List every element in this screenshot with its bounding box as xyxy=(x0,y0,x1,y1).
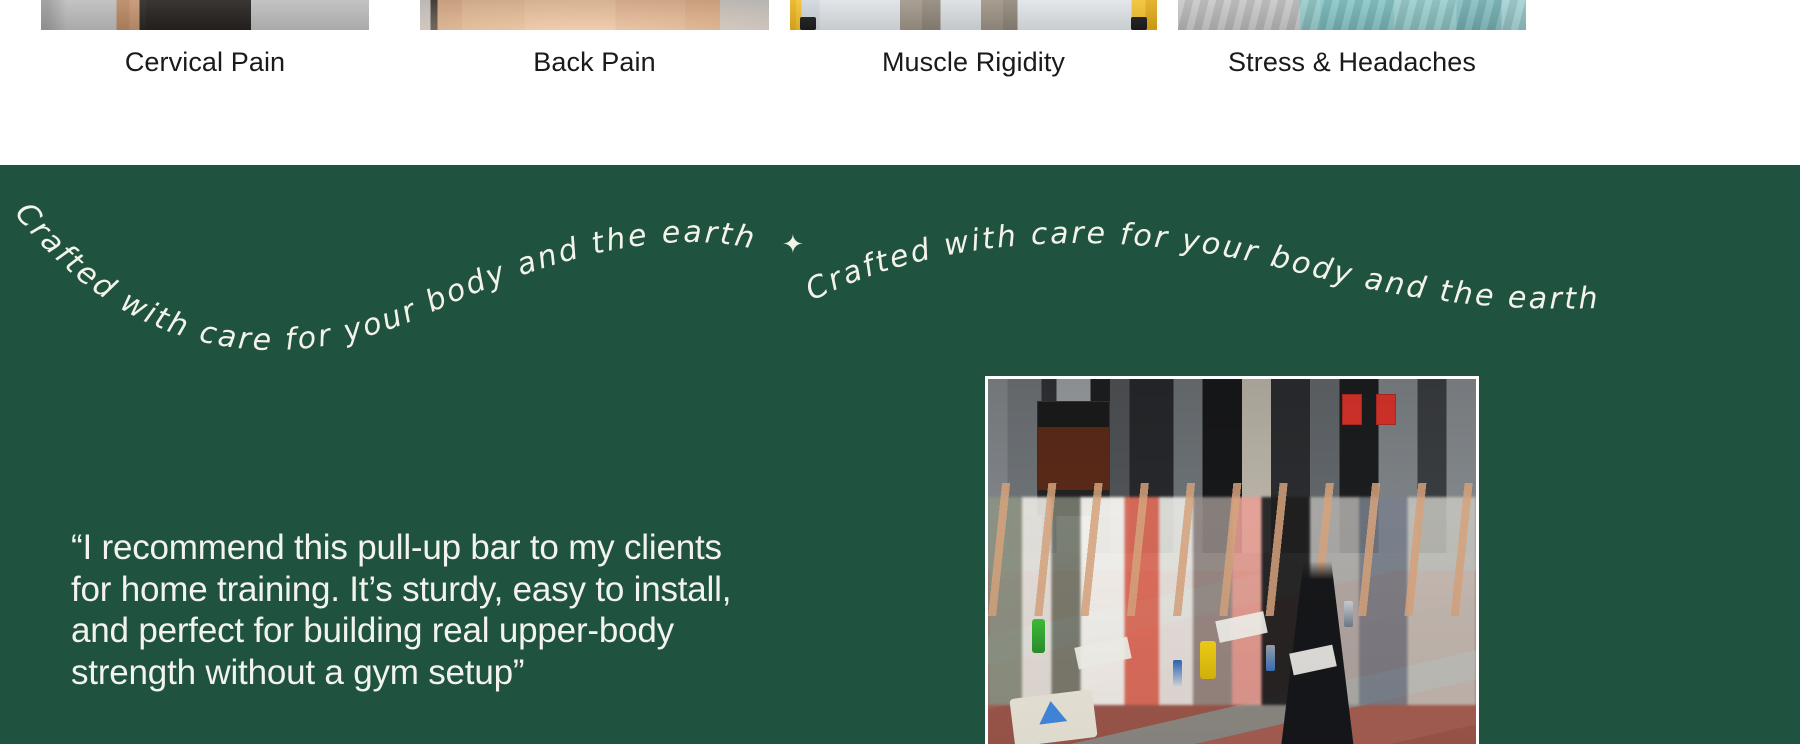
testimonial-quote: “I recommend this pull-up bar to my clie… xyxy=(71,527,771,693)
benefit-card-label: Cervical Pain xyxy=(41,47,369,78)
quote-line: “I recommend this pull-up bar to my clie… xyxy=(71,527,771,569)
marquee-star-icon: ✦ xyxy=(782,229,804,259)
quote-line: strength without a gym setup” xyxy=(71,652,771,694)
back-pain-photo xyxy=(420,0,769,30)
quote-line: for home training. It’s sturdy, easy to … xyxy=(71,569,771,611)
testimonial-section: Crafted with care for your body and the … xyxy=(0,165,1800,744)
muscle-rigidity-photo xyxy=(790,0,1157,30)
benefits-strip: Cervical Pain Back Pain Muscle Rigidity … xyxy=(0,0,1800,165)
outdoor-group-yoga-photo xyxy=(985,376,1479,744)
benefit-card-label: Back Pain xyxy=(420,47,769,78)
marquee-ribbon: Crafted with care for your body and the … xyxy=(0,183,1800,323)
benefit-card-cervical-pain[interactable]: Cervical Pain xyxy=(41,0,369,78)
benefit-card-label: Stress & Headaches xyxy=(1178,47,1526,78)
cervical-pain-photo xyxy=(41,0,369,30)
testimonial-page: Cervical Pain Back Pain Muscle Rigidity … xyxy=(0,0,1800,744)
benefit-card-back-pain[interactable]: Back Pain xyxy=(420,0,769,78)
benefit-card-label: Muscle Rigidity xyxy=(790,47,1157,78)
benefit-card-stress-headaches[interactable]: Stress & Headaches xyxy=(1178,0,1526,78)
stress-headaches-photo xyxy=(1178,0,1526,30)
quote-line: and perfect for building real upper-body xyxy=(71,610,771,652)
photo-scene xyxy=(988,379,1476,744)
marquee-text-second: Crafted with care for your body and the … xyxy=(800,216,1600,317)
marquee-text-first: Crafted with care for your body and the … xyxy=(8,196,760,358)
benefit-card-muscle-rigidity[interactable]: Muscle Rigidity xyxy=(790,0,1157,78)
